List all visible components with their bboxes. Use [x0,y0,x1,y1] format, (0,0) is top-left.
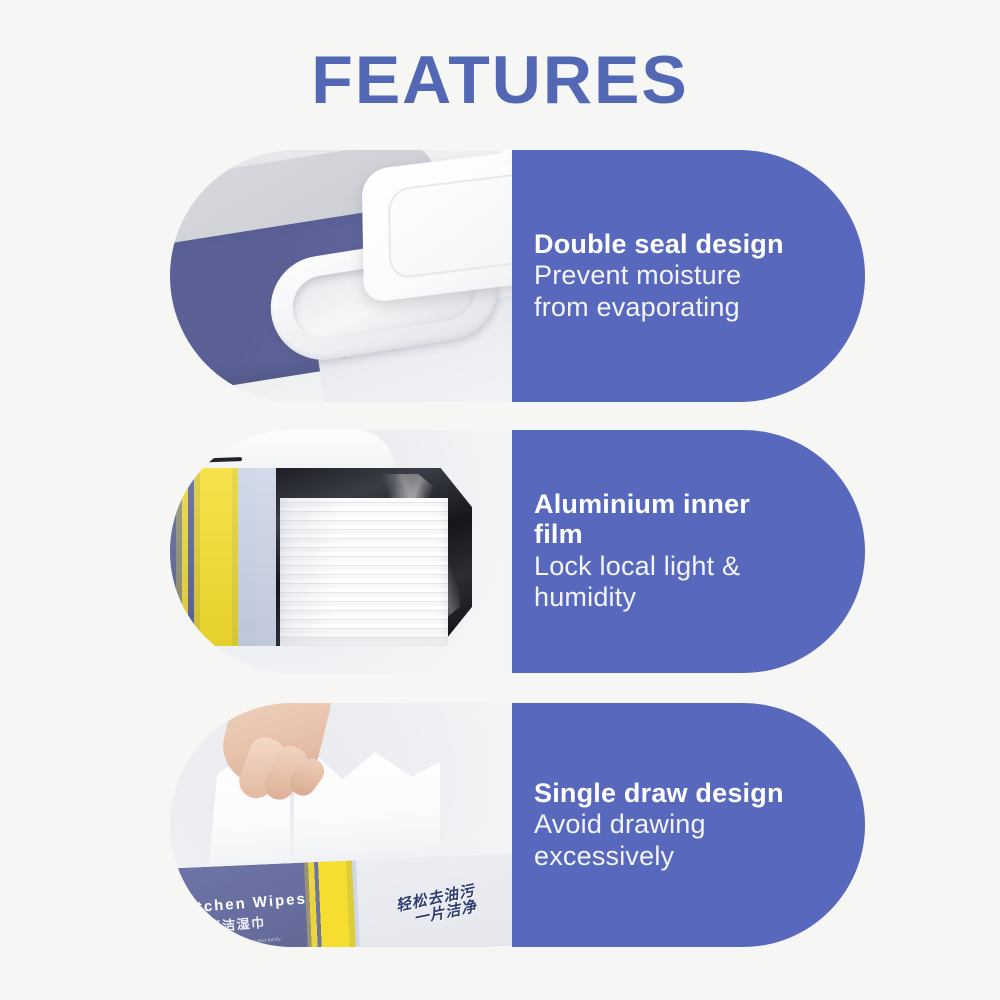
feature-headline: Single draw design [534,778,795,808]
wipes-pack: Kitchen Wipes 厨房清洁湿巾 Removal of pollutio… [170,853,512,947]
pack-slogan: 轻松去油污 一片洁净 [376,879,498,933]
feature-text-panel: Single draw design Avoid drawing excessi… [512,703,865,947]
pack-outer-packaging [170,468,278,646]
folded-wipes-stack [280,498,448,646]
feature-photo-single-draw: Kitchen Wipes 厨房清洁湿巾 Removal of pollutio… [170,703,512,947]
flip-top-lid [362,150,512,303]
flip-top-lid-inner [388,170,512,280]
features-infographic: FEATURES Wipes 80 pcs [0,0,1000,1000]
flip-top-lid-tab [501,150,512,167]
pack-yellow-stripe [304,860,360,947]
feature-row: Aluminium inner film Lock local light & … [170,430,865,673]
feature-photo-double-seal: Wipes 80 pcs [170,150,512,402]
feature-subline: Lock local light & humidity [534,551,795,614]
feature-photo-aluminium-film [170,430,512,673]
feature-text-panel: Aluminium inner film Lock local light & … [512,430,865,673]
feature-row: Kitchen Wipes 厨房清洁湿巾 Removal of pollutio… [170,703,865,947]
feature-row: Wipes 80 pcs Double seal design Prevent … [170,150,865,402]
feature-text-panel: Double seal design Prevent moisture from… [512,150,865,402]
feature-headline: Aluminium inner film [534,489,795,549]
feature-headline: Double seal design [534,229,795,259]
page-title: FEATURES [0,46,1000,114]
feature-subline: Avoid drawing excessively [534,809,795,872]
feature-subline: Prevent moisture from evaporating [534,260,795,323]
